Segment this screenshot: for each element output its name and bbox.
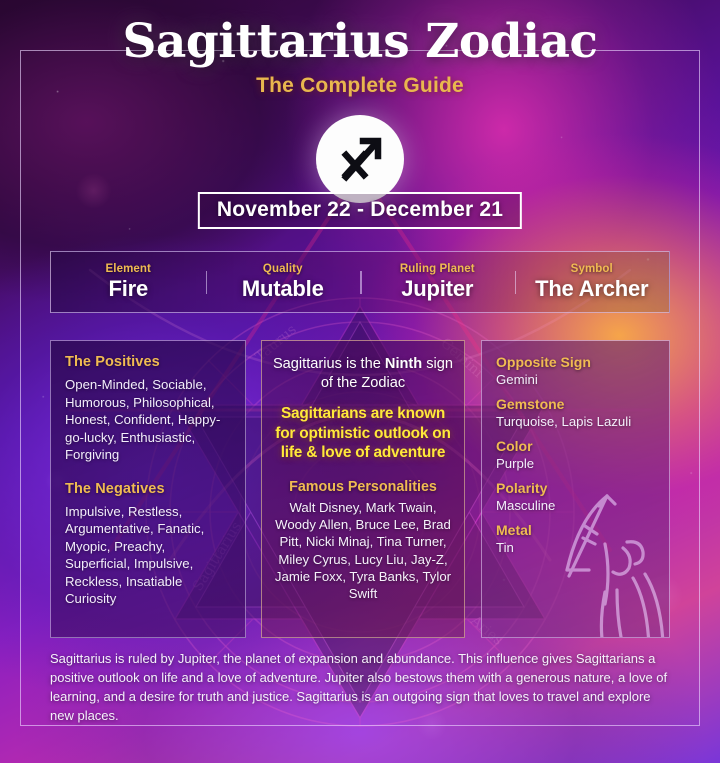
famous-personalities-heading: Famous Personalities [272,479,454,495]
date-range-badge: November 22 - December 21 [198,192,522,229]
traits-panel: The Positives Open-Minded, Sociable, Hum… [50,340,246,638]
correspondence-value: Purple [496,456,656,471]
attribute-label: Quality [210,263,357,275]
correspondences-panel: Opposite Sign Gemini Gemstone Turquoise,… [481,340,670,638]
page-subtitle: The Complete Guide [0,74,720,98]
attribute-value: Fire [55,276,202,302]
attributes-bar: Element Fire Quality Mutable Ruling Plan… [50,251,670,313]
correspondence-value: Turquoise, Lapis Lazuli [496,414,656,429]
attribute-quality: Quality Mutable [206,263,361,302]
attribute-label: Element [55,263,202,275]
correspondence-value: Tin [496,540,656,555]
correspondence-label: Opposite Sign [496,354,656,370]
attribute-value: Jupiter [364,276,511,302]
positives-heading: The Positives [65,354,232,370]
highlight-statement: Sagittarians are known for optimistic ou… [272,404,454,463]
correspondence-label: Polarity [496,480,656,496]
sagittarius-symbol-medallion [316,115,404,203]
attribute-value: Mutable [210,276,357,302]
lead-emphasis: Ninth [385,356,422,372]
correspondence-label: Color [496,438,656,454]
sagittarius-glyph-icon [332,131,388,187]
negatives-heading: The Negatives [65,481,232,497]
header: Sagittarius Zodiac The Complete Guide [0,18,720,98]
attribute-label: Ruling Planet [364,263,511,275]
correspondence-row: Color Purple [496,438,656,471]
correspondence-row: Opposite Sign Gemini [496,354,656,387]
correspondence-value: Masculine [496,498,656,513]
attribute-symbol: Symbol The Archer [515,263,670,302]
zodiac-order-statement: Sagittarius is the Ninth sign of the Zod… [272,355,454,393]
content-columns: The Positives Open-Minded, Sociable, Hum… [50,340,670,638]
lead-before: Sagittarius is the [273,356,385,372]
correspondence-label: Gemstone [496,396,656,412]
correspondence-row: Metal Tin [496,522,656,555]
attribute-label: Symbol [519,263,666,275]
positives-text: Open-Minded, Sociable, Humorous, Philoso… [65,376,232,464]
page-title: Sagittarius Zodiac [0,18,720,67]
attribute-element: Element Fire [51,263,206,302]
famous-personalities-text: Walt Disney, Mark Twain, Woody Allen, Br… [272,499,454,602]
negatives-text: Impulsive, Restless, Argumentative, Fana… [65,503,232,608]
summary-panel: Sagittarius is the Ninth sign of the Zod… [261,340,465,638]
attribute-ruling-planet: Ruling Planet Jupiter [360,263,515,302]
correspondence-value: Gemini [496,372,656,387]
spacer [65,464,232,481]
summary-paragraph: Sagittarius is ruled by Jupiter, the pla… [50,650,670,726]
correspondence-row: Polarity Masculine [496,480,656,513]
correspondence-row: Gemstone Turquoise, Lapis Lazuli [496,396,656,429]
infographic-canvas: Gemini Sagittarius Taurus Aries Sagittar… [0,0,720,763]
attribute-value: The Archer [519,276,666,302]
correspondence-label: Metal [496,522,656,538]
